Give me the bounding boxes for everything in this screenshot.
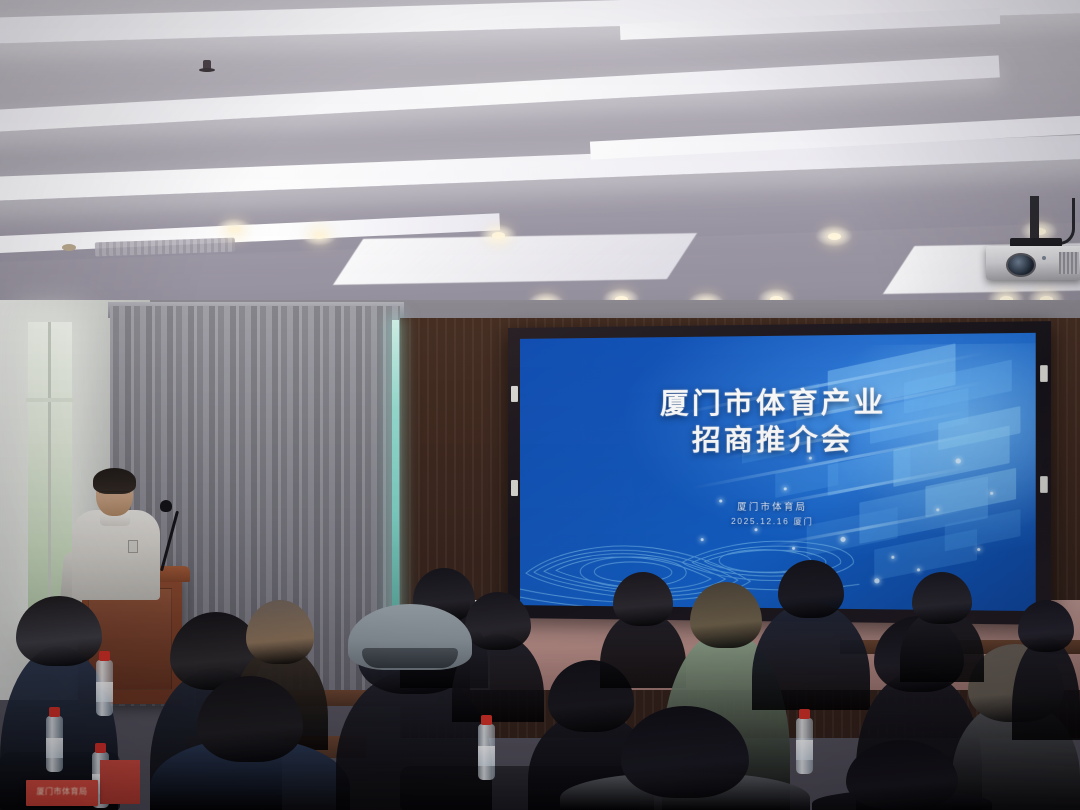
led-strip-light <box>392 320 399 620</box>
microphone-icon <box>160 500 172 512</box>
bottle-label <box>46 738 63 758</box>
attendee-dark-17 <box>812 740 992 810</box>
smoke-detector-icon <box>62 244 76 251</box>
slide-title-line1: 厦门市体育产业 <box>660 386 886 419</box>
attendee-head <box>465 592 531 650</box>
slide-title: 厦门市体育产业 招商推介会 <box>520 383 1036 460</box>
attendee-far-right <box>1012 600 1080 740</box>
glasses-icon <box>99 491 130 498</box>
ceiling <box>0 0 1080 332</box>
water-bottle-icon <box>46 716 63 772</box>
attendee-head <box>246 600 314 664</box>
screen-sparkles <box>520 333 1036 339</box>
screen-light-streaks <box>520 333 1036 339</box>
attendee-navy-suit <box>752 560 870 710</box>
water-bottle-icon <box>478 724 495 780</box>
attendee-back-right <box>900 572 984 682</box>
screen-sparkle <box>784 487 787 490</box>
screen-speaker-right <box>1040 365 1048 382</box>
name-placard-secondary <box>100 760 140 804</box>
speaker-badge <box>128 540 138 553</box>
water-bottle-icon <box>96 660 113 716</box>
screen-sparkle <box>977 548 980 551</box>
screen-speaker-right2 <box>1040 476 1048 493</box>
projector-vent <box>1059 252 1079 274</box>
downlight-icon <box>228 226 241 233</box>
screen-window-motif <box>520 333 1036 339</box>
attendee-head <box>778 560 844 618</box>
slide-organizer: 厦门市体育局 <box>520 499 1036 514</box>
water-bottle-icon <box>796 718 813 774</box>
sprinkler-head-icon <box>203 60 211 72</box>
downlight-icon <box>828 233 841 240</box>
attendee-head <box>846 740 958 810</box>
attendee-head <box>912 572 972 624</box>
attendee-shoulders <box>1012 637 1080 740</box>
conference-photo: 厦门市体育产业 招商推介会 厦门市体育局 2025.12.16 厦门 厦门市体育… <box>0 0 1080 810</box>
bottle-label <box>96 682 113 702</box>
cap-brim <box>362 648 458 668</box>
downlight-icon <box>313 232 326 239</box>
name-placard-text: 厦门市体育局 <box>26 786 98 797</box>
screen-sparkle <box>891 556 894 559</box>
screen-sparkle <box>990 492 993 495</box>
screen-sparkle <box>874 578 879 583</box>
bottle-label <box>796 740 813 760</box>
window-sill <box>26 398 74 402</box>
attendee-head <box>16 596 102 666</box>
ceiling-light-cove-2 <box>0 55 1000 134</box>
downlight-icon <box>492 232 505 239</box>
ceiling-light-cove-5 <box>333 233 697 285</box>
projector-icon <box>986 246 1080 280</box>
attendee-head <box>197 676 303 762</box>
name-placard: 厦门市体育局 <box>26 780 98 806</box>
window-mullion <box>48 322 51 622</box>
projector-mount <box>1030 196 1039 244</box>
screen-speaker-left2 <box>511 480 518 496</box>
projector-lens <box>1006 253 1036 277</box>
attendee-blue-plaid <box>150 676 350 810</box>
attendee-head <box>621 706 749 798</box>
slide-title-line2: 招商推介会 <box>520 421 1036 460</box>
attendee-head <box>1018 600 1074 652</box>
attendee-grey-vest <box>560 706 810 810</box>
bottle-label <box>478 746 495 766</box>
screen-sparkle <box>917 568 920 571</box>
projector-led <box>1042 256 1046 260</box>
screen-speaker-left <box>511 386 518 402</box>
